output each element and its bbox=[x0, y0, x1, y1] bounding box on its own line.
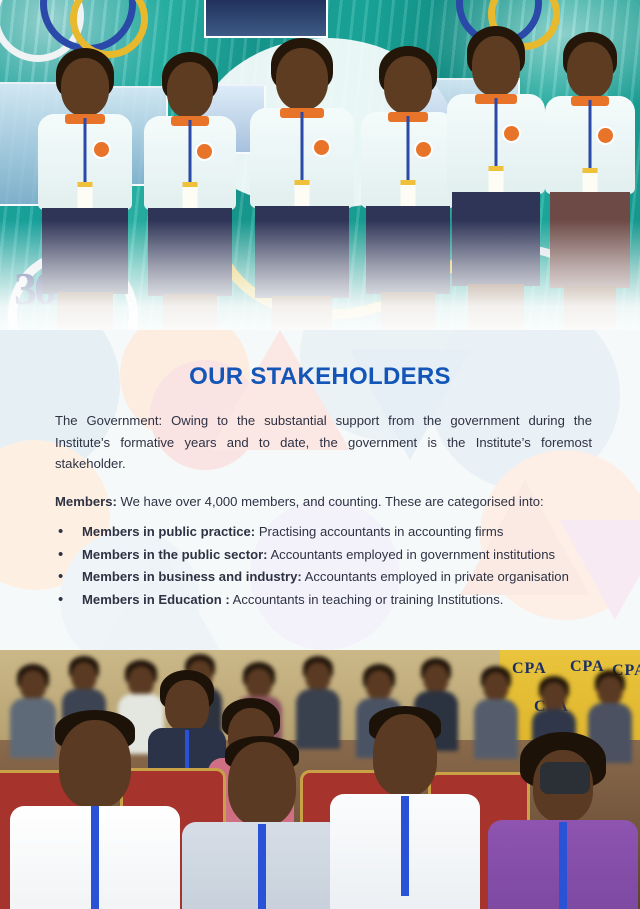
members-label: Members: bbox=[55, 494, 117, 509]
list-item: • Members in public practice: Practising… bbox=[55, 521, 592, 543]
paragraph-members-intro: Members: We have over 4,000 members, and… bbox=[55, 491, 592, 513]
stakeholder-category-list: • Members in public practice: Practising… bbox=[55, 521, 592, 610]
bottom-photograph: CPA CPA CPA CPA bbox=[0, 650, 640, 909]
content-section: OUR STAKEHOLDERS The Government: Owing t… bbox=[0, 330, 640, 650]
list-item-text: Practising accountants in accounting fir… bbox=[255, 524, 503, 539]
list-item-text: Accountants employed in private organisa… bbox=[302, 569, 569, 584]
backdrop-inset-photo bbox=[204, 0, 328, 38]
page-title: OUR STAKEHOLDERS bbox=[0, 363, 640, 391]
audience-member bbox=[488, 732, 638, 909]
face-mask bbox=[540, 762, 590, 794]
body-copy: The Government: Owing to the substantial… bbox=[55, 410, 592, 611]
list-item-label: Members in Education : bbox=[82, 592, 230, 607]
top-photograph: 30 CPA bbox=[0, 0, 640, 340]
list-item-label: Members in public practice: bbox=[82, 524, 255, 539]
list-item: • Members in Education : Accountants in … bbox=[55, 589, 592, 611]
bullet-icon: • bbox=[58, 521, 63, 543]
paragraph-government: The Government: Owing to the substantial… bbox=[55, 410, 592, 475]
document-page: 30 CPA bbox=[0, 0, 640, 909]
list-item: • Members in the public sector: Accounta… bbox=[55, 544, 592, 566]
audience-member bbox=[182, 736, 342, 909]
audience-member bbox=[10, 710, 180, 909]
top-photo-fade bbox=[0, 220, 640, 340]
bullet-icon: • bbox=[58, 589, 63, 611]
bullet-icon: • bbox=[58, 544, 63, 566]
list-item-label: Members in business and industry: bbox=[82, 569, 302, 584]
list-item: • Members in business and industry: Acco… bbox=[55, 566, 592, 588]
list-item-text: Accountants employed in government insti… bbox=[268, 547, 556, 562]
list-item-text: Accountants in teaching or training Inst… bbox=[230, 592, 504, 607]
audience-member bbox=[330, 706, 480, 909]
list-item-label: Members in the public sector: bbox=[82, 547, 268, 562]
bullet-icon: • bbox=[58, 566, 63, 588]
members-intro-text: We have over 4,000 members, and counting… bbox=[117, 494, 544, 509]
